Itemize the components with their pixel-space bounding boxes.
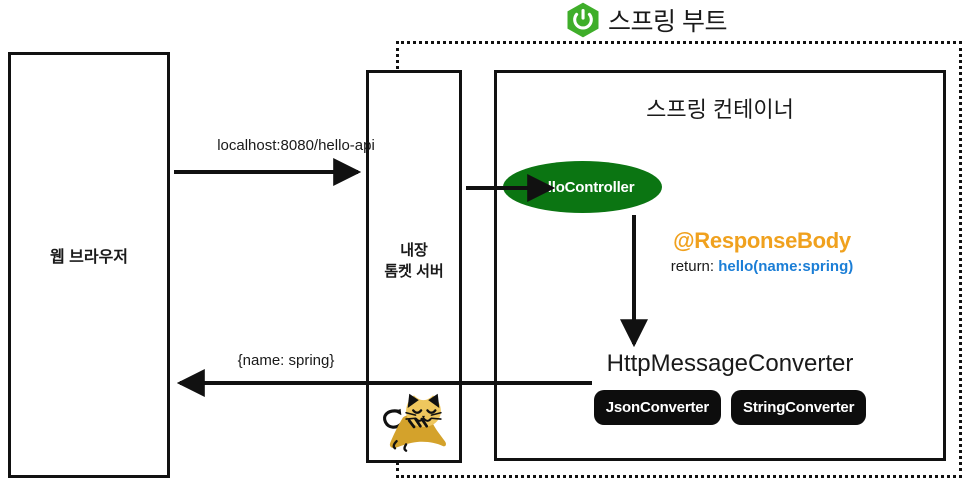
tomcat-label-line1: 내장 bbox=[366, 240, 462, 261]
tomcat-server-label: 내장 톰켓 서버 bbox=[366, 240, 462, 282]
spring-boot-header: 스프링 부트 bbox=[566, 2, 727, 38]
converter-chip-list: JsonConverter StringConverter bbox=[560, 390, 900, 425]
http-message-converter-title: HttpMessageConverter bbox=[560, 350, 900, 378]
spring-container-title: 스프링 컨테이너 bbox=[494, 92, 946, 124]
spring-boot-title: 스프링 부트 bbox=[608, 2, 727, 38]
hello-controller-label: helloController bbox=[531, 179, 635, 196]
return-statement: return: hello(name:spring) bbox=[622, 258, 902, 275]
response-payload-label: {name: spring} bbox=[186, 352, 386, 369]
json-converter-chip[interactable]: JsonConverter bbox=[594, 390, 721, 425]
string-converter-chip[interactable]: StringConverter bbox=[731, 390, 866, 425]
apache-tomcat-cat-icon bbox=[374, 389, 454, 457]
return-keyword: return: bbox=[671, 258, 714, 275]
return-value: hello(name:spring) bbox=[718, 258, 853, 275]
spring-boot-leaf-power-icon bbox=[566, 2, 600, 38]
hello-controller-node[interactable]: helloController bbox=[503, 161, 662, 213]
request-url-label: localhost:8080/hello-api bbox=[176, 137, 416, 154]
response-body-annotation: @ResponseBody bbox=[622, 228, 902, 254]
web-browser-label: 웹 브라우저 bbox=[8, 243, 170, 267]
apache-tomcat-logo bbox=[372, 387, 456, 459]
tomcat-label-line2: 톰켓 서버 bbox=[366, 261, 462, 282]
diagram-canvas: 스프링 부트 웹 브라우저 내장 톰켓 서버 bbox=[0, 0, 972, 486]
